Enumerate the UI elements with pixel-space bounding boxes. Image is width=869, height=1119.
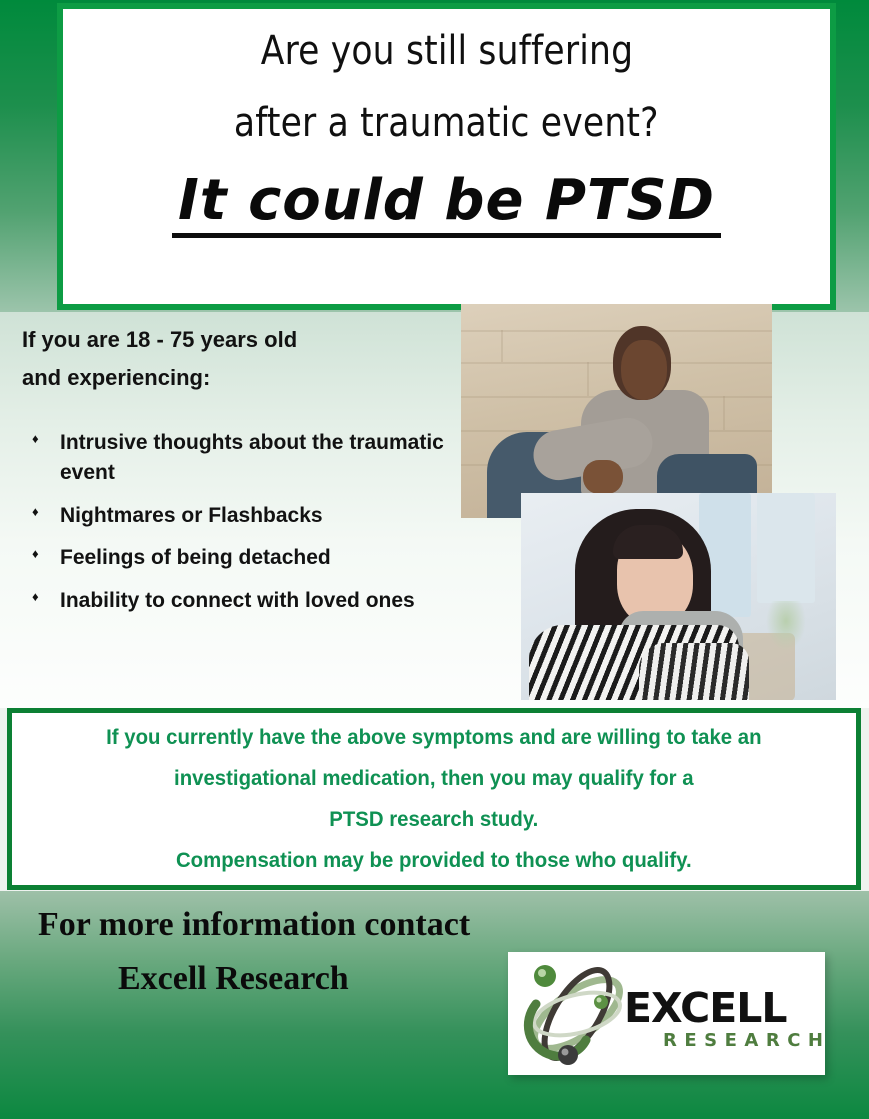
- atom-orbit-icon: [518, 960, 636, 1068]
- qualification-line-3: PTSD research study.: [329, 808, 538, 831]
- headline-panel: Are you still suffering after a traumati…: [57, 3, 836, 310]
- qualification-line-4: Compensation may be provided to those wh…: [176, 849, 692, 872]
- symptom-label: Nightmares or Flashbacks: [60, 504, 323, 527]
- plant: [766, 601, 806, 651]
- criteria-line-age: If you are 18 - 75 years old: [22, 321, 462, 359]
- excell-research-logo: EXCELL RESEARCH: [508, 952, 825, 1075]
- brick-line: [501, 330, 503, 362]
- symptom-label: Inability to connect with loved ones: [60, 589, 415, 612]
- list-item: ♦ Nightmares or Flashbacks: [26, 501, 496, 531]
- diamond-bullet-icon: ♦: [32, 502, 39, 523]
- ptsd-study-flyer: Are you still suffering after a traumati…: [0, 0, 869, 1119]
- brick-line: [723, 396, 725, 430]
- diamond-bullet-icon: ♦: [32, 544, 39, 565]
- logo-wordmark: EXCELL: [624, 988, 787, 1029]
- criteria-line-experiencing: and experiencing:: [22, 359, 462, 397]
- list-item: ♦ Feelings of being detached: [26, 543, 496, 573]
- symptom-label: Intrusive thoughts about the traumatic e…: [60, 431, 444, 484]
- man-face: [621, 340, 667, 400]
- symptom-list: ♦ Intrusive thoughts about the traumatic…: [26, 428, 496, 628]
- brick-line: [587, 362, 589, 396]
- diamond-bullet-icon: ♦: [32, 587, 39, 608]
- diamond-bullet-icon: ♦: [32, 429, 39, 450]
- man-hand: [583, 460, 623, 494]
- photo-woman-resting-on-pillow: [521, 493, 836, 700]
- list-item: ♦ Inability to connect with loved ones: [26, 586, 496, 616]
- contact-line-2: Excell Research: [118, 960, 349, 998]
- photo-man-sitting-against-brick-wall: [461, 304, 772, 518]
- subheadline-ptsd: It could be PTSD: [172, 173, 721, 238]
- woman-striped-arm: [639, 643, 749, 700]
- qualification-line-1: If you currently have the above symptoms…: [106, 726, 761, 749]
- logo-subtitle: RESEARCH: [663, 1032, 830, 1050]
- headline-line-1: Are you still suffering: [260, 31, 632, 71]
- window-pane: [757, 493, 815, 603]
- woman-hair-front: [613, 525, 683, 559]
- eligibility-criteria: If you are 18 - 75 years old and experie…: [22, 321, 462, 397]
- qualification-line-2: investigational medication, then you may…: [174, 767, 694, 790]
- headline-line-2: after a traumatic event?: [234, 103, 659, 143]
- contact-line-1: For more information contact: [38, 906, 470, 944]
- symptom-label: Feelings of being detached: [60, 546, 331, 569]
- qualification-callout: If you currently have the above symptoms…: [7, 708, 861, 890]
- brick-line: [461, 330, 772, 332]
- list-item: ♦ Intrusive thoughts about the traumatic…: [26, 428, 496, 489]
